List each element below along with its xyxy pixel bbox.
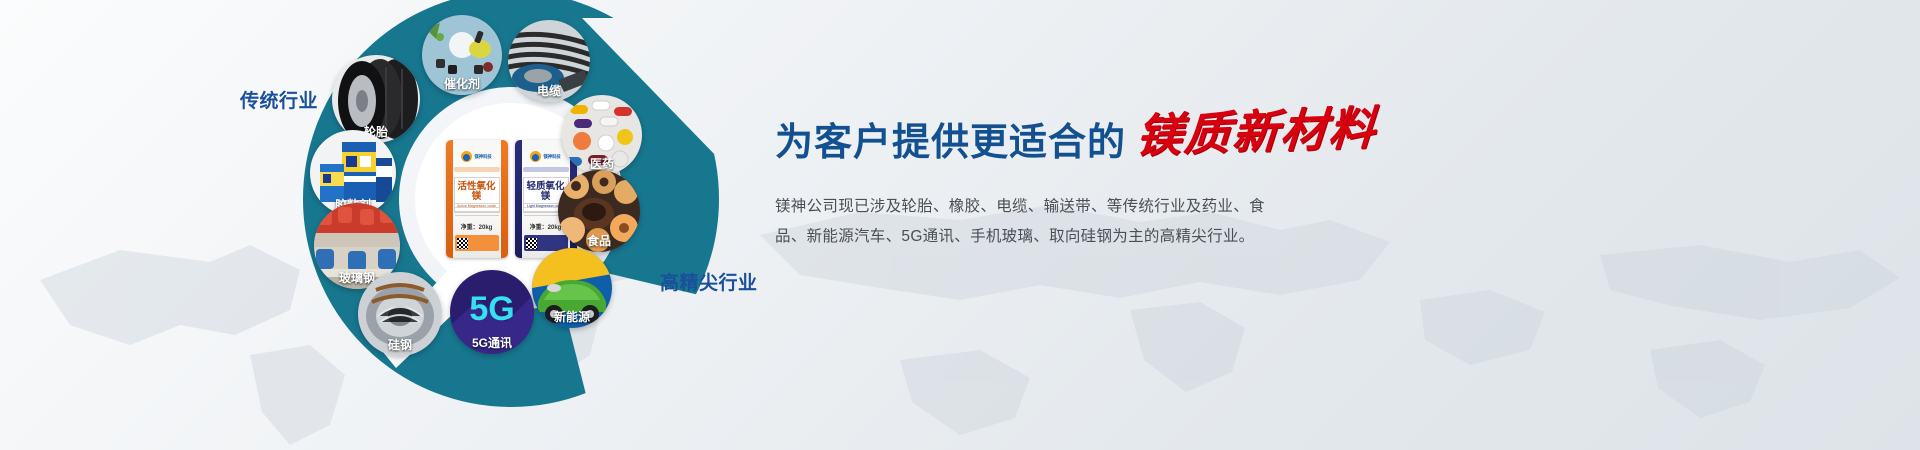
- node-catalyst[interactable]: 催化剂: [422, 15, 502, 95]
- manufacturer-note-orange: [471, 241, 472, 245]
- bag-spec-lines-orange: [455, 203, 499, 219]
- headline: 为客户提供更适合的 镁质新材料: [775, 100, 1535, 166]
- node-5g[interactable]: 5G 5G通讯: [450, 270, 534, 354]
- logo-mark-icon: [461, 151, 472, 162]
- node-catalyst-label: 催化剂: [422, 76, 502, 95]
- 5g-badge-text: 5G: [469, 290, 514, 328]
- industry-wheel-diagram: 镁神科技 活性氧化镁 Active Magnesium oxide 净重：20k…: [300, 0, 720, 450]
- brand-logo-orange: 镁神科技: [446, 149, 508, 164]
- manufacturer-note-blue: [540, 241, 541, 245]
- node-silicon-steel-label: 硅钢: [358, 337, 442, 356]
- headline-blue-text: 为客户提供更适合的: [775, 111, 1126, 166]
- banner-paragraph: 镁神公司现已涉及轮胎、橡胶、电缆、输送带、等传统行业及药业、食品、新能源汽车、5…: [775, 192, 1275, 252]
- product-name-cn-orange: 活性氧化镁: [455, 182, 499, 203]
- brand-name-blue: 镁神科技: [543, 154, 560, 160]
- qr-code-icon: [526, 238, 537, 249]
- node-cable[interactable]: 电缆: [508, 20, 590, 102]
- node-silicon-steel[interactable]: 硅钢: [358, 272, 442, 356]
- label-high-tech-industries: 高精尖行业: [660, 268, 758, 295]
- qr-code-icon: [457, 238, 468, 249]
- hero-banner: 镁神科技 活性氧化镁 Active Magnesium oxide 净重：20k…: [0, 0, 1920, 450]
- banner-copy: 为客户提供更适合的 镁质新材料 镁神公司现已涉及轮胎、橡胶、电缆、输送带、等传统…: [775, 100, 1535, 252]
- node-5g-label: 5G通讯: [450, 335, 534, 354]
- bag-tagline-bar-orange: [454, 167, 500, 172]
- node-new-energy-label: 新能源: [532, 309, 612, 328]
- logo-mark-icon: [530, 151, 541, 162]
- node-new-energy[interactable]: 新能源: [532, 248, 612, 328]
- headline-red-calligraphy: 镁质新材料: [1134, 92, 1379, 166]
- product-bag-active-mgo: 镁神科技 活性氧化镁 Active Magnesium oxide 净重：20k…: [446, 140, 508, 258]
- label-traditional-industries: 传统行业: [240, 86, 318, 113]
- bag-footer-orange: [455, 235, 499, 251]
- node-medicine[interactable]: 医药: [562, 95, 642, 175]
- brand-name-orange: 镁神科技: [474, 154, 491, 160]
- paragraph-line-1: 镁神公司现已涉及轮胎、橡胶、电缆、输送带、等传统行业及药业、食品、新能源汽车、5…: [775, 198, 1265, 245]
- node-food[interactable]: 食品: [558, 170, 640, 252]
- net-weight-orange: 净重：20kg: [446, 222, 508, 231]
